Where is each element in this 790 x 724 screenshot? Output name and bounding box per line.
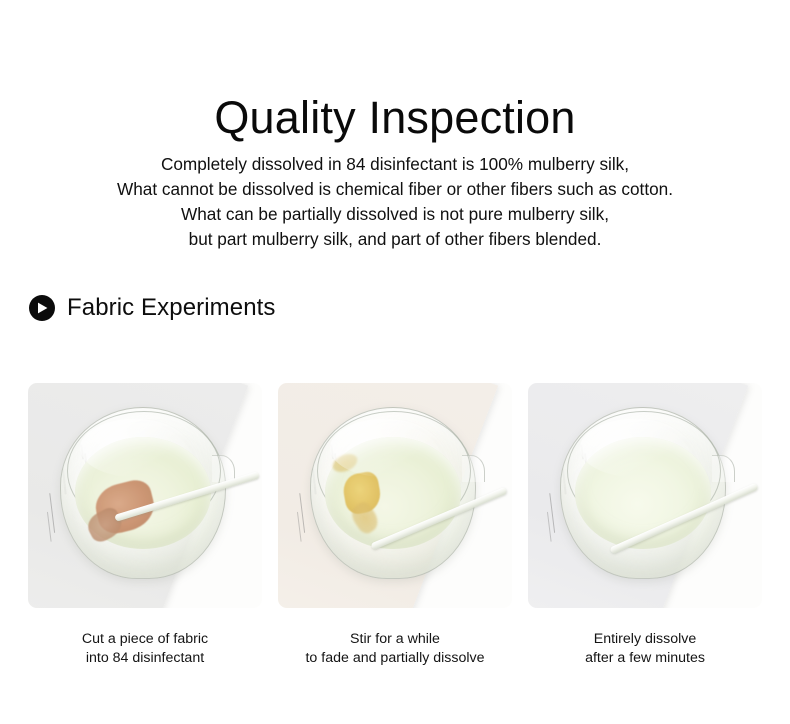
experiment-item: Entirely dissolve after a few minutes (528, 383, 762, 668)
intro-line-1: Completely dissolved in 84 disinfectant … (0, 152, 790, 177)
intro-line-4: but part mulberry silk, and part of othe… (0, 227, 790, 252)
glass-beaker (60, 407, 226, 579)
intro-line-3: What can be partially dissolved is not p… (0, 202, 790, 227)
caption-line-1: Cut a piece of fabric (28, 630, 262, 649)
play-circle-icon (29, 295, 55, 321)
intro-paragraph: Completely dissolved in 84 disinfectant … (0, 152, 790, 252)
section-title: Fabric Experiments (67, 294, 276, 322)
experiment-item: Stir for a while to fade and partially d… (278, 383, 512, 668)
intro-line-2: What cannot be dissolved is chemical fib… (0, 177, 790, 202)
caption-line-1: Stir for a while (278, 630, 512, 649)
glass-beaker (560, 407, 726, 579)
section-header-fabric-experiments: Fabric Experiments (29, 294, 276, 322)
caption-line-1: Entirely dissolve (528, 630, 762, 649)
experiment-photo-2 (278, 383, 512, 608)
caption-line-2: to fade and partially dissolve (278, 649, 512, 668)
caption-line-2: into 84 disinfectant (28, 649, 262, 668)
experiment-caption: Stir for a while to fade and partially d… (278, 630, 512, 668)
experiment-caption: Cut a piece of fabric into 84 disinfecta… (28, 630, 262, 668)
experiment-caption: Entirely dissolve after a few minutes (528, 630, 762, 668)
experiment-item: Cut a piece of fabric into 84 disinfecta… (28, 383, 262, 668)
page-title: Quality Inspection (0, 92, 790, 144)
experiment-gallery: Cut a piece of fabric into 84 disinfecta… (28, 383, 762, 668)
caption-line-2: after a few minutes (528, 649, 762, 668)
glass-beaker (310, 407, 476, 579)
experiment-photo-1 (28, 383, 262, 608)
experiment-photo-3 (528, 383, 762, 608)
